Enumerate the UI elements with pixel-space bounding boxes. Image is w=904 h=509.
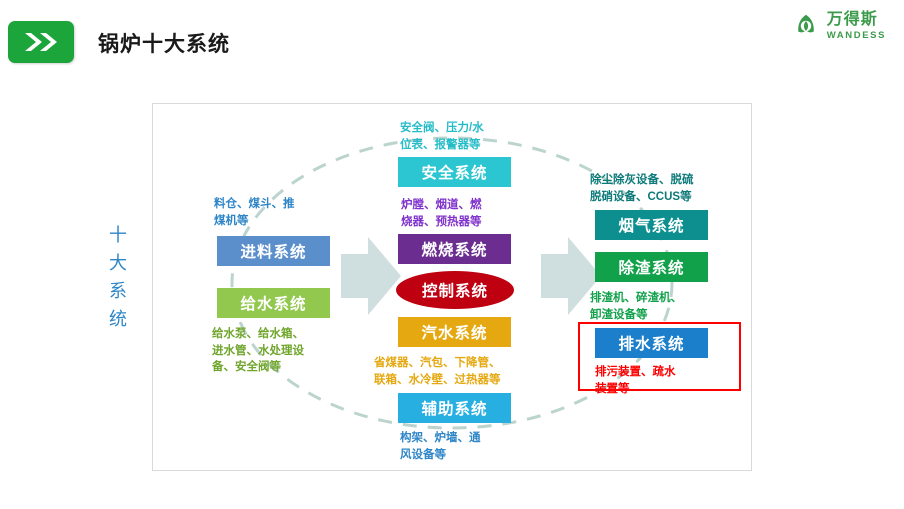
steamwater-system-description: 省煤器、汽包、下降管、 联箱、水冷壁、过热器等 <box>374 355 539 388</box>
vertical-caption: 十 大 系 统 <box>104 222 132 334</box>
double-chevron-right-icon <box>8 21 74 63</box>
brand-logo: 万得斯 WANDESS <box>792 12 886 41</box>
feed-system-box[interactable]: 进料系统 <box>217 236 330 266</box>
drainage-system-box[interactable]: 排水系统 <box>595 328 708 358</box>
brand-name-en: WANDESS <box>827 31 886 41</box>
safety-system-box[interactable]: 安全系统 <box>398 157 511 187</box>
drainage-system-description: 排污装置、疏水 装置等 <box>595 364 715 397</box>
vertical-caption-char-2: 系 <box>104 278 132 306</box>
auxiliary-system-description: 构架、炉墙、通 风设备等 <box>400 430 518 463</box>
feedwater-system-description: 给水泵、给水箱、 进水管、水处理设 备、安全阀等 <box>212 326 342 376</box>
feedwater-system-box[interactable]: 给水系统 <box>217 288 330 318</box>
fluegas-system-description: 除尘除灰设备、脱硫 脱硝设备、CCUS等 <box>590 172 735 205</box>
feed-system-description: 料仓、煤斗、推 煤机等 <box>214 196 334 229</box>
slag-system-box[interactable]: 除渣系统 <box>595 252 708 282</box>
slide-canvas: 锅炉十大系统 万得斯 WANDESS 十 大 系 统 料仓、煤斗、推 煤机等 进… <box>0 0 904 509</box>
steamwater-system-box[interactable]: 汽水系统 <box>398 317 511 347</box>
page-title: 锅炉十大系统 <box>98 28 230 58</box>
fluegas-system-box[interactable]: 烟气系统 <box>595 210 708 240</box>
wandess-emblem-icon <box>792 12 820 40</box>
slag-system-description: 排渣机、碎渣机、 卸渣设备等 <box>590 290 730 323</box>
combustion-system-description: 炉膛、烟道、燃 烧器、预热器等 <box>401 197 519 230</box>
control-system-ellipse[interactable]: 控制系统 <box>396 271 514 309</box>
vertical-caption-char-0: 十 <box>104 222 132 250</box>
slide-header: 锅炉十大系统 万得斯 WANDESS <box>0 0 904 80</box>
vertical-caption-char-3: 统 <box>104 306 132 334</box>
brand-name-cn: 万得斯 <box>827 12 886 28</box>
combustion-system-box[interactable]: 燃烧系统 <box>398 234 511 264</box>
vertical-caption-char-1: 大 <box>104 250 132 278</box>
auxiliary-system-box[interactable]: 辅助系统 <box>398 393 511 423</box>
safety-system-description: 安全阀、压力/水 位表、报警器等 <box>400 120 518 153</box>
